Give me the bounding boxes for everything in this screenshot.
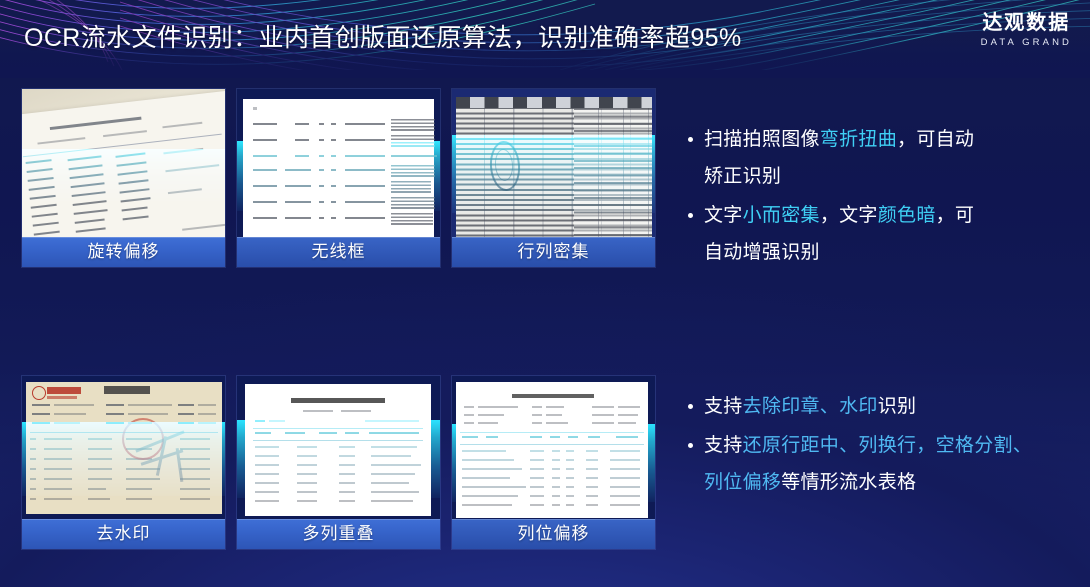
sample-card-caption: 行列密集 xyxy=(452,237,655,267)
bullet-text: 支持 xyxy=(704,435,743,456)
bullet-highlight: 去除印章、水印 xyxy=(743,396,878,417)
bullet-text: 自动增强识别 xyxy=(704,242,820,263)
bullet-highlight: 还原行距中、列换行，空格分割、 xyxy=(743,435,1033,456)
feature-list-item: 支持去除印章、水印识别 xyxy=(686,388,1066,425)
bullet-text: 文字 xyxy=(704,205,743,226)
bullet-text: 等情形流水表格 xyxy=(781,472,916,493)
bullet-text: 矫正识别 xyxy=(704,166,781,187)
sample-thumbnail-rotated xyxy=(22,89,225,237)
bullet-text: ，可自动 xyxy=(897,129,974,150)
bullet-text: 支持 xyxy=(704,396,743,417)
bullet-highlight: 弯折扭曲 xyxy=(820,129,897,150)
sample-card-caption: 多列重叠 xyxy=(237,519,440,549)
bullet-highlight: 颜色暗 xyxy=(878,205,936,226)
sample-card-caption: 旋转偏移 xyxy=(22,237,225,267)
bullet-highlight: 列位偏移 xyxy=(704,472,781,493)
brand-logo: 达观数据 DATA GRAND xyxy=(981,13,1072,48)
brand-logo-cn: 达观数据 xyxy=(981,13,1072,33)
sample-thumbnail-dense xyxy=(452,89,655,237)
page-title: OCR流水文件识别：业内首创版面还原算法，识别准确率超95% xyxy=(24,18,742,54)
sample-thumbnail-columnshift xyxy=(452,376,655,519)
slide-root: OCR流水文件识别：业内首创版面还原算法，识别准确率超95% 达观数据 DATA… xyxy=(0,0,1090,587)
sample-card-columnshift[interactable]: 列位偏移 xyxy=(452,376,655,549)
bullet-text: 识别 xyxy=(878,396,917,417)
sample-thumbnail-watermark xyxy=(22,376,225,519)
sample-card-caption: 无线框 xyxy=(237,237,440,267)
sample-card-caption: 去水印 xyxy=(22,519,225,549)
feature-list-top: 扫描拍照图像弯折扭曲，可自动 矫正识别 文字小而密集，文字颜色暗，可 自动增强识… xyxy=(686,121,1066,273)
feature-list-item: 文字小而密集，文字颜色暗，可 自动增强识别 xyxy=(686,197,1066,271)
sample-card-borderless[interactable]: 无线框 xyxy=(237,89,440,267)
sample-card-overlap[interactable]: 多列重叠 xyxy=(237,376,440,549)
feature-list-item: 扫描拍照图像弯折扭曲，可自动 矫正识别 xyxy=(686,121,1066,195)
feature-list-bottom: 支持去除印章、水印识别 支持还原行距中、列换行，空格分割、 列位偏移等情形流水表… xyxy=(686,388,1066,503)
brand-logo-en: DATA GRAND xyxy=(981,38,1072,48)
sample-card-watermark[interactable]: 去水印 xyxy=(22,376,225,549)
sample-thumbnail-borderless xyxy=(237,89,440,237)
bullet-text: ，文字 xyxy=(820,205,878,226)
sample-card-dense[interactable]: 行列密集 xyxy=(452,89,655,267)
bullet-highlight: 小而密集 xyxy=(743,205,820,226)
sample-thumbnail-overlap xyxy=(237,376,440,519)
bullet-text: 扫描拍照图像 xyxy=(704,129,820,150)
sample-card-caption: 列位偏移 xyxy=(452,519,655,549)
feature-list-item: 支持还原行距中、列换行，空格分割、 列位偏移等情形流水表格 xyxy=(686,427,1066,501)
sample-card-rotated[interactable]: 旋转偏移 xyxy=(22,89,225,267)
bullet-text: ，可 xyxy=(936,205,975,226)
